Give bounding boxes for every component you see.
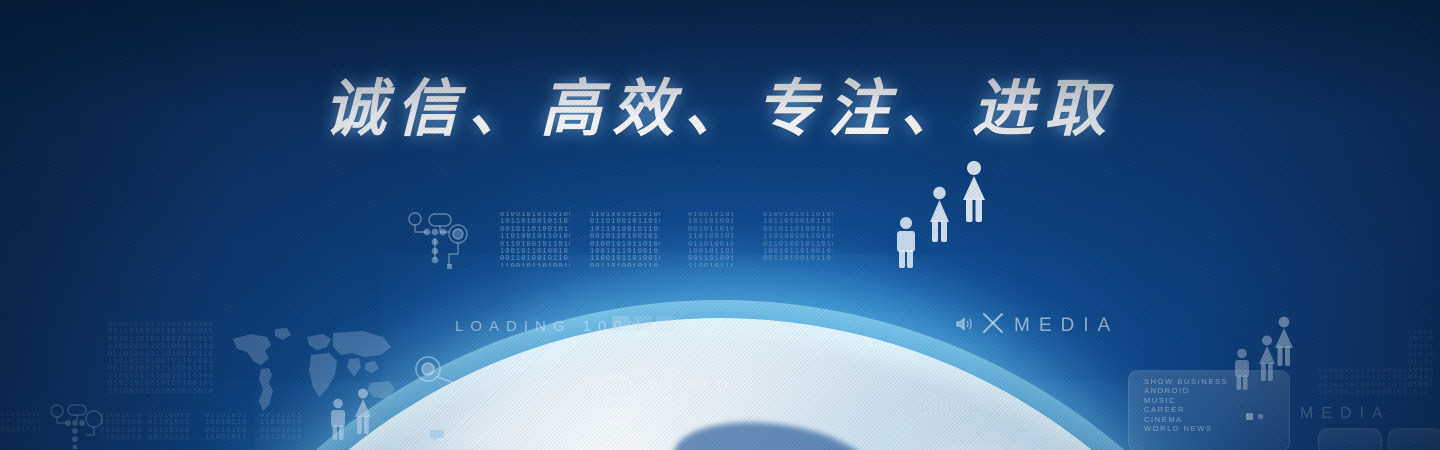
hero-banner: 诚信、高效、专注、进取: [0, 0, 1440, 450]
background-vignette: [0, 0, 1440, 450]
